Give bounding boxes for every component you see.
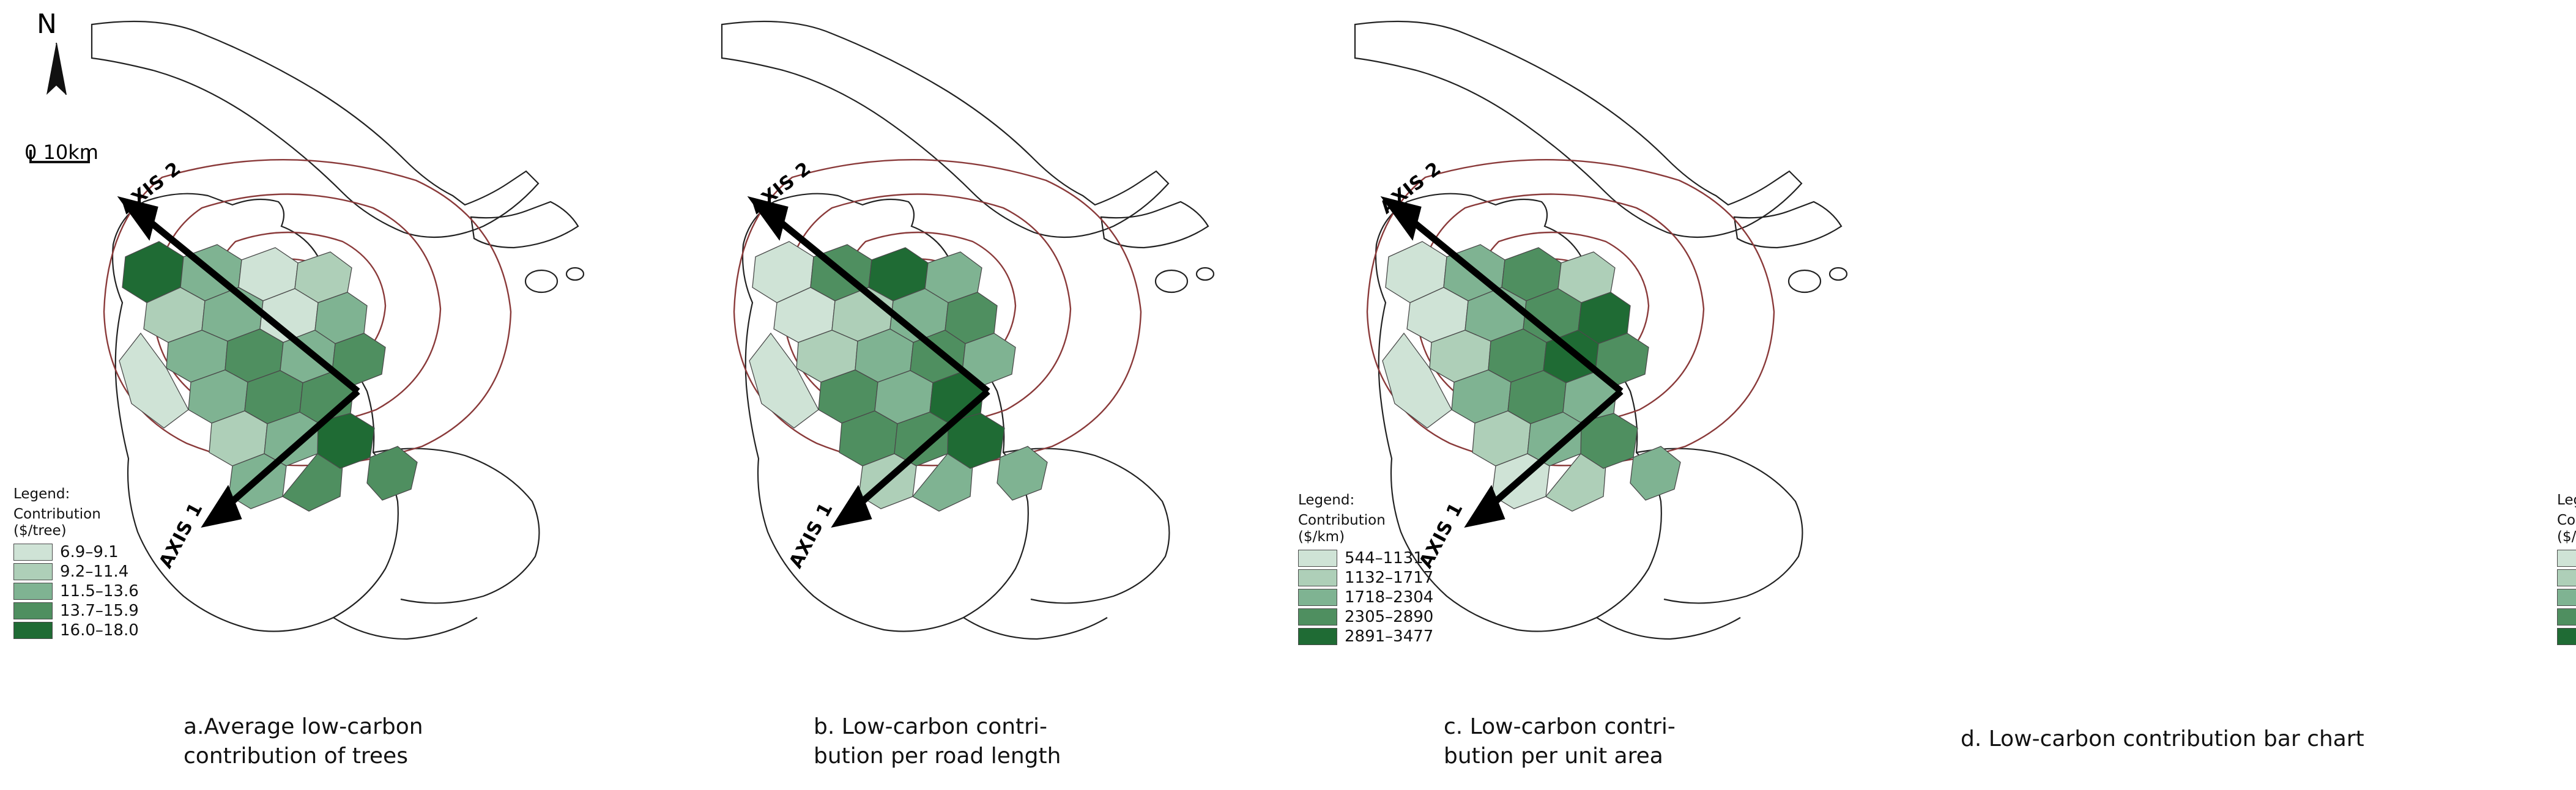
legend-swatch (13, 544, 53, 561)
figure-root: N 0 10km (0, 0, 2576, 790)
legend-a-row: 9.2–11.4 (13, 563, 139, 581)
caption-b: b. Low-carbon contri- bution per road le… (814, 712, 1061, 770)
chart-panel-d: Contribution ($/tree) 11.011.512.012.5In… (1896, 0, 2576, 790)
map-panel-c: AXIS 2 AXIS 1 Legend: Contribution ($/km… (1260, 0, 1896, 790)
legend-a-value: 13.7–15.9 (60, 602, 139, 621)
legend-a-value: 6.9–9.1 (60, 543, 119, 562)
legend-a-row: 16.0–18.0 (13, 621, 139, 640)
legend-a-value: 11.5–13.6 (60, 582, 139, 601)
legend-a-value: 16.0–18.0 (60, 621, 139, 640)
map-panel-b: AXIS 2 AXIS 1 Legend: Contribution ($/km… (630, 0, 1260, 790)
legend-a-row: 6.9–9.1 (13, 543, 139, 561)
legend-a-row: 13.7–15.9 (13, 602, 139, 620)
map-c-graphic (1260, 0, 1896, 709)
legend-a-header: Legend: (13, 486, 139, 503)
legend-swatch (13, 583, 53, 600)
legend-a-value: 9.2–11.4 (60, 563, 128, 581)
legend-swatch (13, 602, 53, 619)
legend-swatch (13, 563, 53, 580)
caption-c: c. Low-carbon contri- bution per unit ar… (1444, 712, 1676, 770)
caption-a: a.Average low-carbon contribution of tre… (184, 712, 423, 770)
legend-a-row: 11.5–13.6 (13, 582, 139, 600)
caption-d: d. Low-carbon contribution bar chart (1961, 725, 2364, 754)
map-b-graphic (630, 0, 1260, 709)
map-panel-a: AXIS 2 AXIS 1 Legend: Contribution ($/tr… (0, 0, 630, 790)
legend-swatch (13, 622, 53, 639)
legend-a-title: Contribution ($/tree) (13, 506, 139, 539)
legend-a: Legend: Contribution ($/tree) 6.9–9.1 9.… (13, 486, 139, 640)
